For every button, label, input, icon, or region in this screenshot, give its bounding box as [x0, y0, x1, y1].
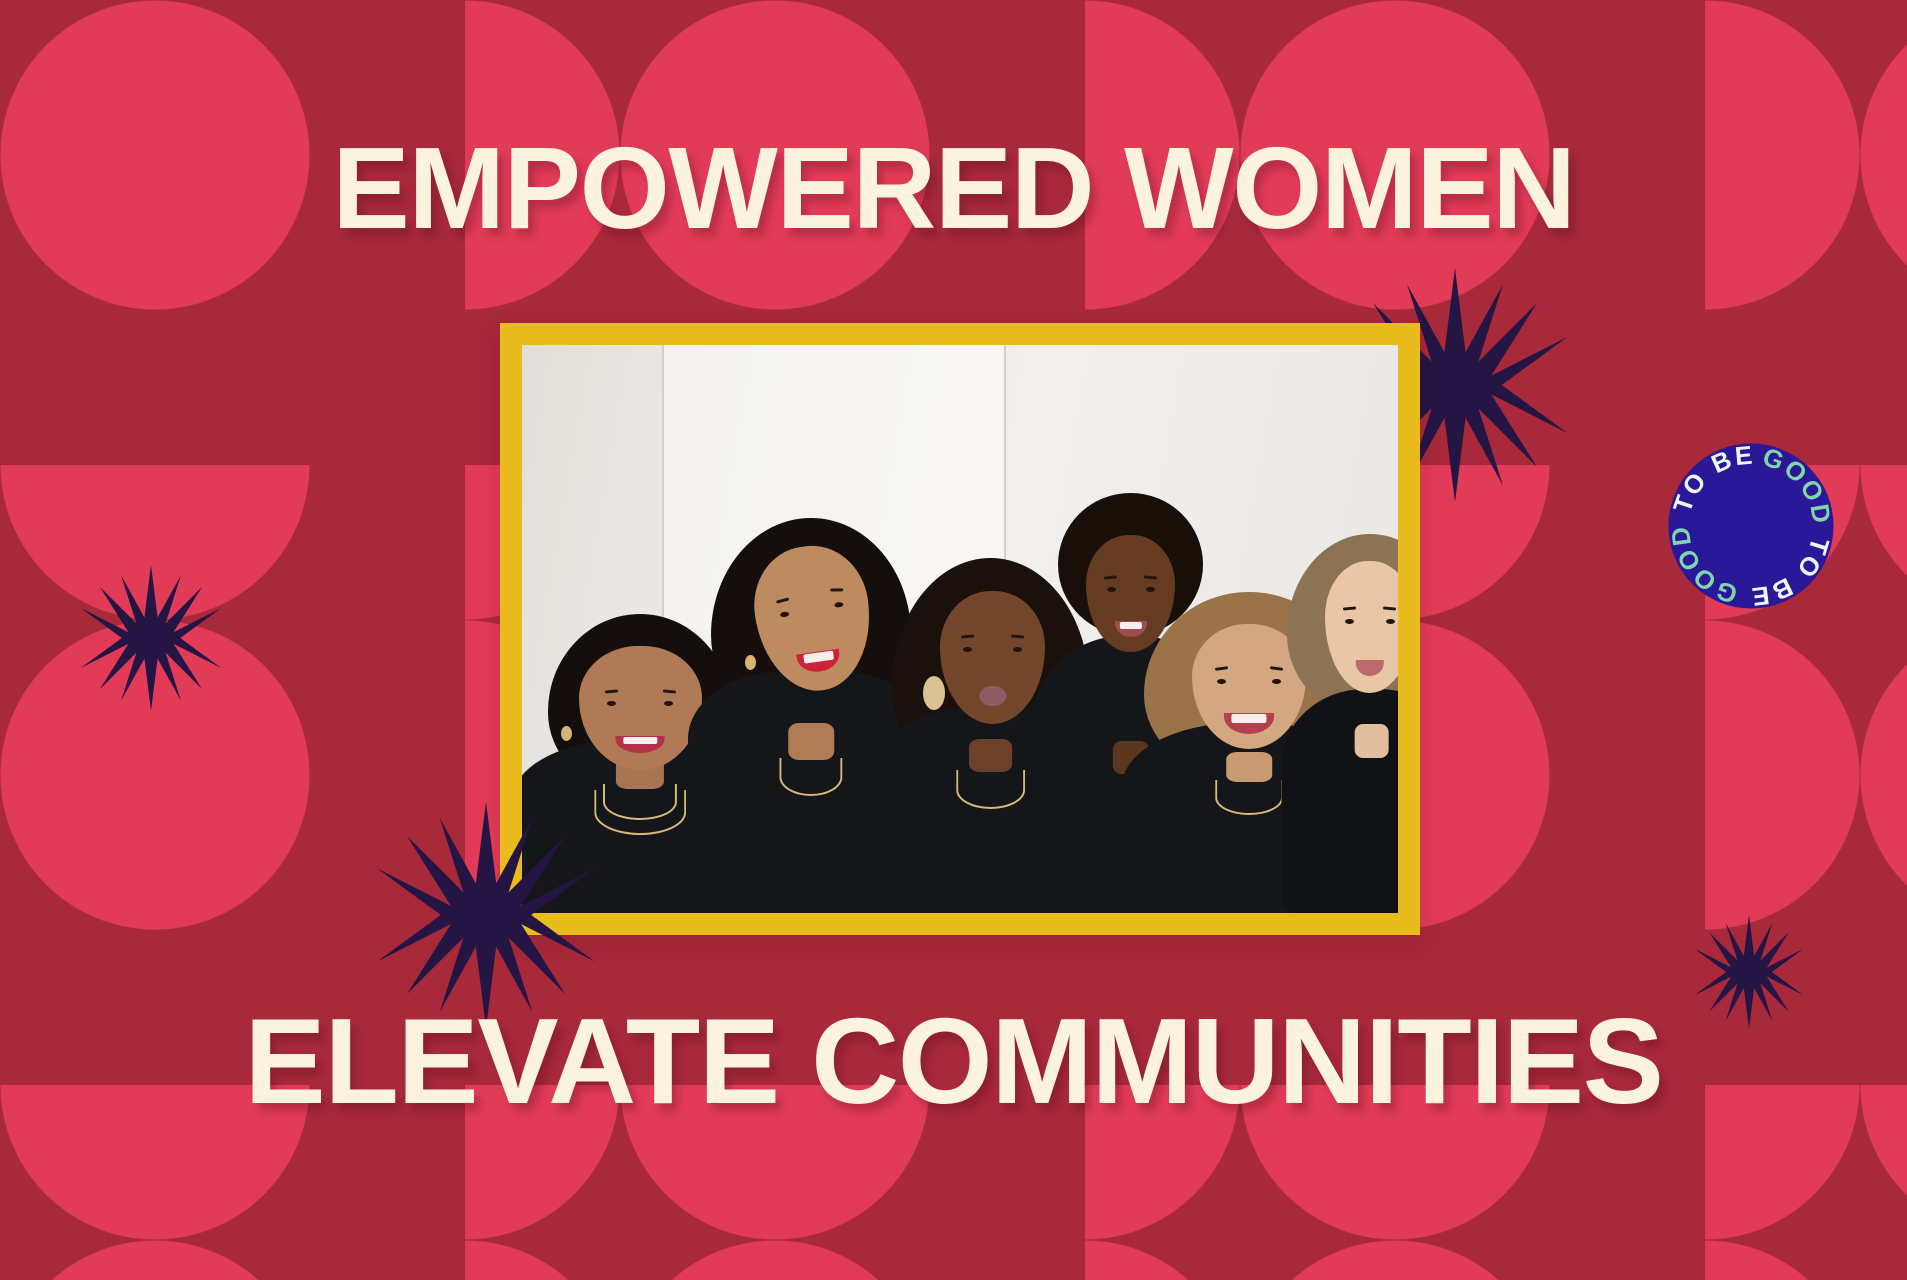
- neck: [1226, 752, 1272, 782]
- page-title-bottom: ELEVATE COMMUNITIES: [0, 1000, 1907, 1122]
- page-title-top: EMPOWERED WOMEN: [0, 130, 1907, 246]
- photo-frame: [500, 323, 1420, 935]
- neck: [969, 739, 1013, 772]
- neck: [788, 723, 834, 759]
- person-6: [1275, 526, 1398, 913]
- good-to-be-badge: GOOD TO BE GOOD TO BE: [1665, 440, 1837, 612]
- neck: [1354, 724, 1389, 759]
- team-photo: [522, 345, 1398, 913]
- body: [1281, 689, 1398, 913]
- women-group: [522, 493, 1398, 913]
- poster-canvas: EMPOWERED WOMEN: [0, 0, 1907, 1280]
